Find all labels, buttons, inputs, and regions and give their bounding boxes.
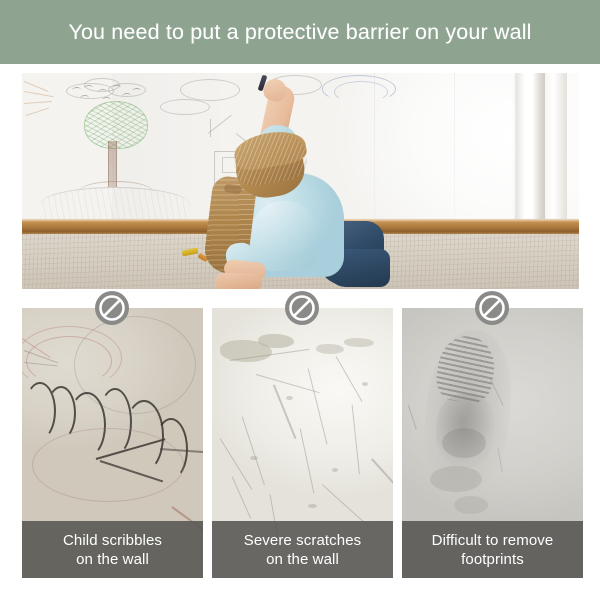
faint-crayon-loop <box>32 428 184 502</box>
page-title: You need to put a protective barrier on … <box>68 20 531 45</box>
wall-seam <box>454 73 455 225</box>
panel-caption: Child scribbles on the wall <box>22 521 203 578</box>
caption-line-1: Severe scratches <box>244 532 361 549</box>
caption-text: Child scribbles on the wall <box>59 531 166 569</box>
paint-chip <box>344 338 374 347</box>
promo-infographic-page: You need to put a protective barrier on … <box>0 0 600 600</box>
prohibition-icon <box>94 290 130 326</box>
hero-photo <box>22 73 579 289</box>
problem-panel-severe-scratches: Severe scratches on the wall <box>212 308 393 578</box>
dirt-smudge <box>430 466 482 492</box>
panel-caption: Difficult to remove footprints <box>402 521 583 578</box>
header-banner: You need to put a protective barrier on … <box>0 0 600 64</box>
paint-chip <box>258 334 294 348</box>
problem-panel-footprints: Difficult to remove footprints <box>402 308 583 578</box>
child-figure <box>198 81 388 289</box>
wall-dent <box>308 504 317 508</box>
caption-line-2: on the wall <box>76 551 149 568</box>
paint-chip <box>316 344 344 354</box>
caption-line-2: footprints <box>461 551 524 568</box>
caption-text: Difficult to remove footprints <box>428 531 558 569</box>
dirt-smudge <box>454 496 488 514</box>
wall-dent <box>362 382 368 386</box>
prohibition-icon <box>474 290 510 326</box>
dirt-smudge <box>442 428 486 458</box>
caption-line-1: Child scribbles <box>63 532 162 549</box>
caption-text: Severe scratches on the wall <box>240 531 365 569</box>
door-trim-column <box>517 73 545 223</box>
wall-dent <box>332 468 338 472</box>
prohibition-icon <box>284 290 320 326</box>
problem-panel-child-scribbles: Child scribbles on the wall <box>22 308 203 578</box>
caption-line-2: on the wall <box>266 551 339 568</box>
panel-caption: Severe scratches on the wall <box>212 521 393 578</box>
child-shirt-fold <box>250 201 316 271</box>
caption-line-1: Difficult to remove <box>432 532 554 549</box>
wall-dent <box>286 396 293 400</box>
door-trim-column-inner <box>545 73 567 223</box>
wall-dent <box>250 456 258 460</box>
child-leg <box>216 273 262 289</box>
hero-scene <box>22 73 579 289</box>
